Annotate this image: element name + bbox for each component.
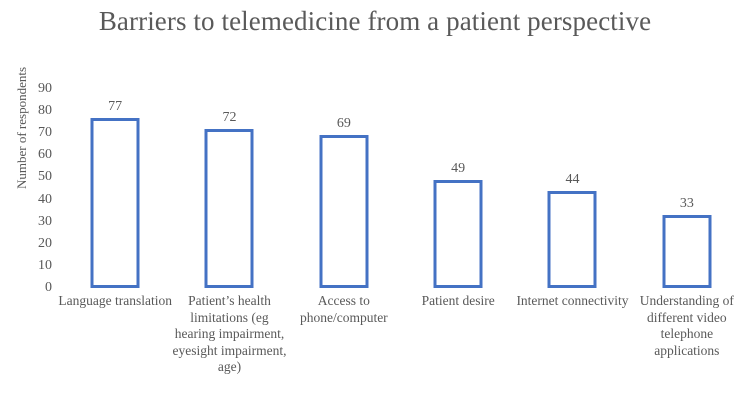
x-axis-label: Access to phone/computer (287, 293, 401, 326)
x-axis-label: Patient’s health limitations (eg hearing… (172, 293, 286, 376)
x-axis-label: Patient desire (401, 293, 515, 310)
bar-value-label: 44 (565, 173, 579, 187)
y-axis-tick-0: 0 (22, 281, 52, 295)
x-axis-category-labels: Language translationPatient’s health lim… (58, 293, 744, 405)
y-axis-tick-70: 70 (22, 126, 52, 140)
y-axis-tick-30: 30 (22, 215, 52, 229)
x-axis-label: Language translation (58, 293, 172, 310)
plot-area: 777269494433 (58, 89, 744, 288)
bar-value-label: 33 (680, 197, 694, 211)
bar[interactable] (205, 129, 254, 288)
y-axis-tick-50: 50 (22, 170, 52, 184)
x-axis-label: Understanding of different video telepho… (630, 293, 744, 359)
bar-slot: 72 (172, 89, 286, 288)
bar-value-label: 49 (451, 162, 465, 176)
bar[interactable] (91, 118, 140, 288)
x-axis-label: Internet connectivity (515, 293, 629, 310)
bar-value-label: 72 (222, 111, 236, 125)
y-axis-tick-20: 20 (22, 237, 52, 251)
bar-slot: 33 (630, 89, 744, 288)
chart-title: Barriers to telemedicine from a patient … (60, 4, 690, 38)
y-axis-tick-10: 10 (22, 259, 52, 273)
bar-slot: 77 (58, 89, 172, 288)
bar-slot: 44 (515, 89, 629, 288)
y-axis-tick-60: 60 (22, 148, 52, 162)
bar[interactable] (434, 180, 483, 288)
y-axis-tick-labels: 9080706050403020100 (22, 82, 52, 294)
bar-value-label: 77 (108, 100, 122, 114)
bar-slot: 49 (401, 89, 515, 288)
bar[interactable] (319, 135, 368, 288)
y-axis-tick-80: 80 (22, 104, 52, 118)
bar[interactable] (548, 191, 597, 288)
chart-page: Barriers to telemedicine from a patient … (0, 0, 750, 407)
bar-slot: 69 (287, 89, 401, 288)
bar[interactable] (662, 215, 711, 288)
bar-value-label: 69 (337, 117, 351, 131)
y-axis-tick-40: 40 (22, 193, 52, 207)
y-axis-tick-90: 90 (22, 82, 52, 96)
